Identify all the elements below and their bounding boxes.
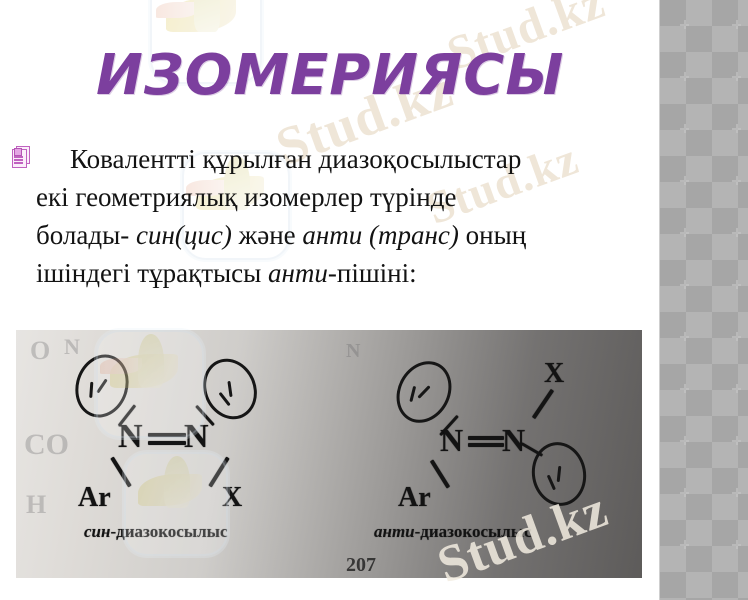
body-line-4a: ішіндегі тұрақтысы (36, 258, 268, 288)
anti-caption-rest: -диазокосылыс (415, 522, 532, 541)
lone-pair-ellipse (527, 438, 591, 510)
checkered-page-background (659, 0, 748, 600)
body-line-2: екі геометриялық изомерлер түрінде (36, 182, 456, 212)
syn-caption-rest: -диазокосылыс (110, 522, 227, 541)
chemistry-structure-photo: O N CO H N N (16, 330, 642, 578)
atom-label-x: X (222, 482, 242, 514)
body-line-3-italic-anti: анти (транс) (302, 220, 459, 250)
anti-caption: анти-диазокосылыс (374, 522, 532, 542)
anti-caption-italic: анти (374, 522, 415, 541)
bond-line (430, 459, 450, 488)
body-line-4-italic-anti: анти (268, 258, 328, 288)
atom-label-n: N (502, 422, 525, 459)
syn-caption-italic: син (84, 522, 110, 541)
body-line-3a: болады- (36, 220, 136, 250)
atom-label-ar: Ar (78, 482, 111, 514)
body-line-3b: және (232, 220, 303, 250)
double-bond-lower (468, 443, 504, 447)
book-page-number: 207 (346, 554, 376, 577)
atom-label-n: N (184, 418, 209, 456)
double-bond-lower (148, 441, 186, 445)
atom-label-n: N (118, 418, 143, 456)
syn-caption: син-диазокосылыс (84, 522, 228, 542)
slide-canvas: Stud.kz Stud.kz Stud.kz ИЗОМЕРИЯСЫ Ковал… (0, 0, 650, 600)
double-bond-upper (148, 433, 186, 437)
bond-line (110, 457, 131, 488)
double-bond-upper (468, 436, 504, 440)
body-line-3c: оның (459, 220, 526, 250)
body-line-4b: -пішіні: (328, 258, 417, 288)
page-root: Stud.kz Stud.kz Stud.kz ИЗОМЕРИЯСЫ Ковал… (0, 0, 748, 600)
body-paragraph: Коваленттi құрылған диазоқосылыстар екі … (36, 140, 636, 292)
document-bullet-icon (12, 146, 29, 167)
body-line-1: Коваленттi құрылған диазоқосылыстар (70, 144, 521, 174)
atom-label-n: N (440, 422, 463, 459)
syn-structure: N N Ar X син-диазокосылыс (16, 330, 336, 578)
atom-label-x: X (544, 358, 564, 390)
atom-label-ar: Ar (398, 482, 431, 514)
bond-line (532, 389, 554, 419)
body-line-3-italic-syn: син(цис) (136, 220, 232, 250)
page-title: ИЗОМЕРИЯСЫ (96, 48, 564, 104)
anti-structure: N N X Ar анти-диазокосылыс (336, 330, 642, 578)
